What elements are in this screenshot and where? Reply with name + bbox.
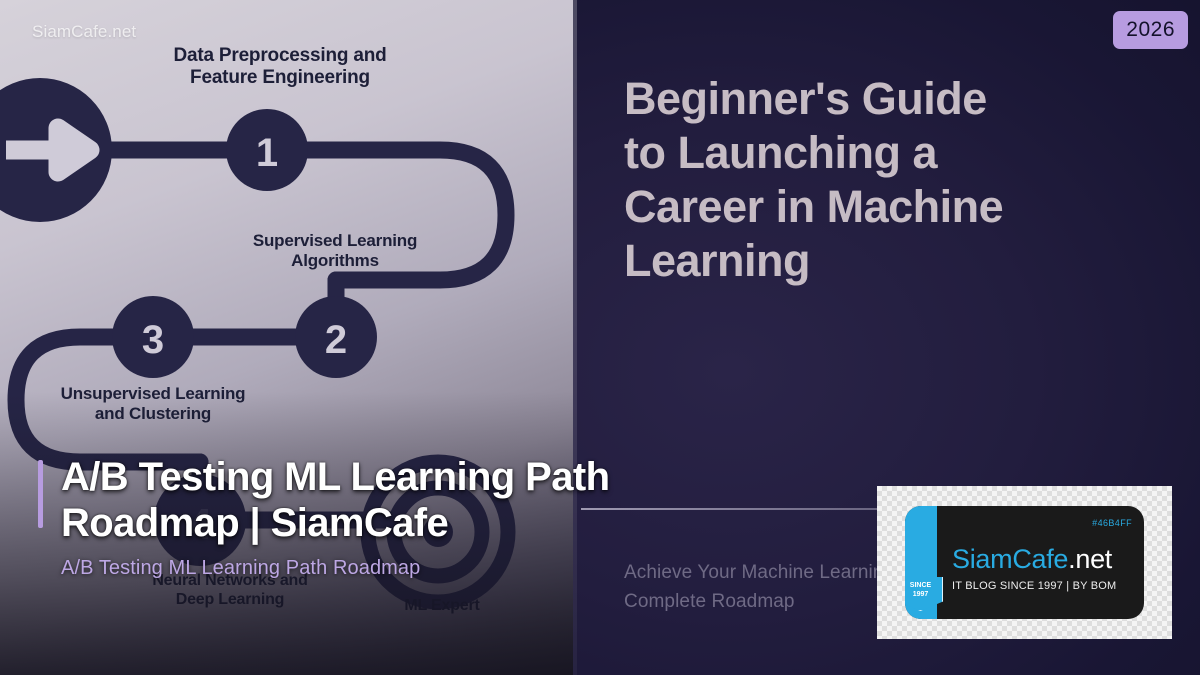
screenshot-canvas: 1 2 3 4 Data Preprocessing andFeature En… bbox=[0, 0, 1200, 675]
page-title: A/B Testing ML Learning Path Roadmap | S… bbox=[61, 455, 741, 546]
logo-badge: SINCE 1997 #46B4FF SiamCafe.net IT BLOG … bbox=[905, 506, 1144, 619]
logo-brand-name: SiamCafe.net bbox=[952, 544, 1112, 575]
cover-headline: Beginner's Guide to Launching a Career i… bbox=[624, 72, 1004, 288]
overlay-title-block: A/B Testing ML Learning Path Roadmap | S… bbox=[38, 455, 741, 580]
logo-blue-stripe: SINCE 1997 bbox=[905, 506, 937, 619]
page-subtitle: A/B Testing ML Learning Path Roadmap bbox=[61, 557, 741, 580]
year-badge: 2026 bbox=[1113, 11, 1188, 49]
logo-hex-code: #46B4FF bbox=[1092, 518, 1132, 528]
logo-body: #46B4FF SiamCafe.net IT BLOG SINCE 1997 … bbox=[937, 506, 1144, 619]
watermark-top-left: SiamCafe.net bbox=[32, 22, 136, 42]
roadmap-node-1-number: 1 bbox=[256, 131, 278, 175]
roadmap-step-3-label: Unsupervised Learningand Clustering bbox=[3, 384, 303, 424]
roadmap-goal-label: ML Expert bbox=[347, 597, 537, 616]
accent-bar bbox=[38, 460, 43, 528]
logo-brand-main: SiamCafe bbox=[952, 544, 1068, 574]
roadmap-node-3-number: 3 bbox=[142, 318, 164, 362]
siamcafe-logo-card: SINCE 1997 #46B4FF SiamCafe.net IT BLOG … bbox=[877, 486, 1172, 639]
roadmap-step-2-label: Supervised LearningAlgorithms bbox=[185, 231, 485, 271]
roadmap-step-1-label: Data Preprocessing andFeature Engineerin… bbox=[130, 45, 430, 90]
logo-brand-suffix: .net bbox=[1068, 544, 1112, 574]
logo-tagline: IT BLOG SINCE 1997 | BY BOM bbox=[952, 580, 1116, 592]
roadmap-node-2-number: 2 bbox=[325, 318, 347, 362]
